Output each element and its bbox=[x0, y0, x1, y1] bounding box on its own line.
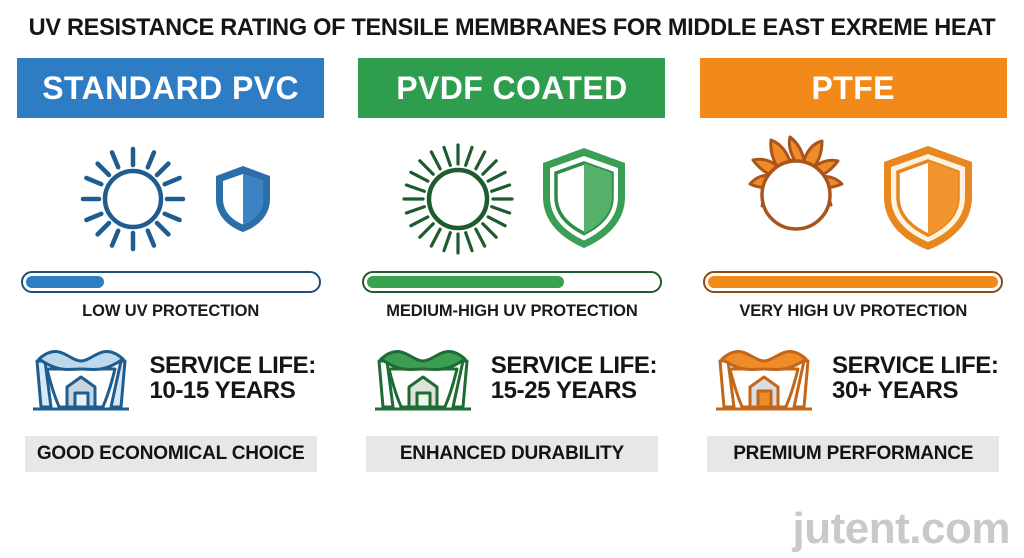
service-life-label: SERVICE LIFE: bbox=[832, 353, 998, 378]
uv-protection-bar-ptfe bbox=[703, 271, 1003, 293]
column-header-pvdf-coated: PVDF COATED bbox=[358, 58, 665, 118]
icon-row-ptfe bbox=[700, 136, 1007, 261]
badge-ptfe: PREMIUM PERFORMANCE bbox=[707, 436, 999, 472]
column-standard-pvc: STANDARD PVC bbox=[0, 55, 341, 558]
service-life-value: 30+ YEARS bbox=[832, 378, 998, 403]
service-life-text-ptfe: SERVICE LIFE: 30+ YEARS bbox=[832, 353, 998, 404]
column-header-standard-pvc: STANDARD PVC bbox=[17, 58, 324, 118]
progress-fill bbox=[367, 276, 564, 288]
protection-label-ptfe: VERY HIGH UV PROTECTION bbox=[739, 302, 967, 321]
service-life-row-standard-pvc: SERVICE LIFE: 10-15 YEARS bbox=[17, 338, 324, 418]
service-life-row-ptfe: SERVICE LIFE: 30+ YEARS bbox=[700, 338, 1007, 418]
service-life-value: 15-25 YEARS bbox=[491, 378, 657, 403]
service-life-label: SERVICE LIFE: bbox=[491, 353, 657, 378]
progress-track bbox=[21, 271, 321, 293]
shield-medium-icon bbox=[537, 144, 631, 254]
infographic-page: UV RESISTANCE RATING OF TENSILE MEMBRANE… bbox=[0, 0, 1024, 558]
column-header-ptfe: PTFE bbox=[700, 58, 1007, 118]
tensile-canopy-building-icon-orange bbox=[708, 339, 820, 417]
page-title: UV RESISTANCE RATING OF TENSILE MEMBRANE… bbox=[20, 14, 1003, 42]
service-life-label: SERVICE LIFE: bbox=[149, 353, 315, 378]
column-pvdf-coated: PVDF COATED bbox=[341, 55, 682, 558]
service-life-text-pvdf-coated: SERVICE LIFE: 15-25 YEARS bbox=[491, 353, 657, 404]
shield-large-icon bbox=[878, 142, 978, 256]
service-life-text-standard-pvc: SERVICE LIFE: 10-15 YEARS bbox=[149, 353, 315, 404]
tensile-canopy-building-icon-green bbox=[367, 339, 479, 417]
uv-protection-bar-pvdf-coated bbox=[362, 271, 662, 293]
tensile-canopy-building-icon-blue bbox=[25, 339, 137, 417]
column-ptfe: PTFE VERY bbox=[683, 55, 1024, 558]
progress-track bbox=[362, 271, 662, 293]
sun-blazing-flames-icon bbox=[728, 133, 864, 265]
sun-thin-rays-icon bbox=[68, 139, 198, 259]
badge-standard-pvc: GOOD ECONOMICAL CHOICE bbox=[25, 436, 317, 472]
protection-label-pvdf-coated: MEDIUM-HIGH UV PROTECTION bbox=[386, 302, 637, 321]
shield-small-icon bbox=[212, 163, 274, 235]
protection-label-standard-pvc: LOW UV PROTECTION bbox=[82, 302, 259, 321]
uv-protection-bar-standard-pvc bbox=[21, 271, 321, 293]
service-life-row-pvdf-coated: SERVICE LIFE: 15-25 YEARS bbox=[358, 338, 665, 418]
icon-row-standard-pvc bbox=[17, 136, 324, 261]
comparison-columns: STANDARD PVC bbox=[0, 55, 1024, 558]
sun-many-rays-icon bbox=[393, 137, 523, 261]
icon-row-pvdf-coated bbox=[358, 136, 665, 261]
progress-fill bbox=[26, 276, 104, 288]
progress-fill bbox=[708, 276, 998, 288]
badge-pvdf-coated: ENHANCED DURABILITY bbox=[366, 436, 658, 472]
progress-track bbox=[703, 271, 1003, 293]
service-life-value: 10-15 YEARS bbox=[149, 378, 315, 403]
